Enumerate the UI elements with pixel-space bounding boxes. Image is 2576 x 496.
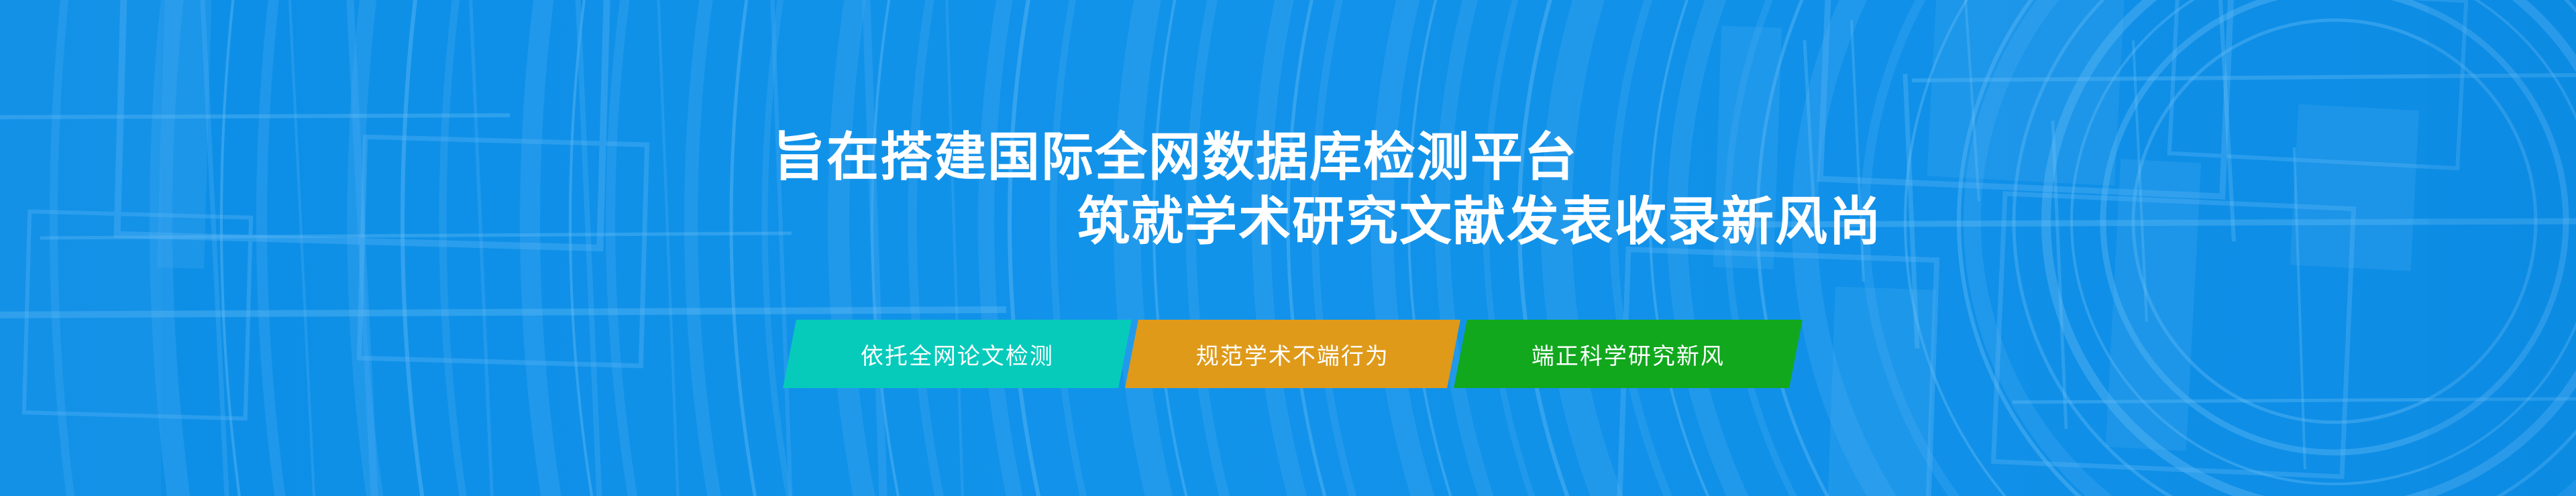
promo-banner: 旨在搭建国际全网数据库检测平台 筑就学术研究文献发表收录新风尚 依托全网论文检测… [0, 0, 2576, 496]
background-pattern [0, 0, 2576, 496]
feature-tag-label: 规范学术不端行为 [1196, 338, 1389, 371]
feature-tag-strip: 依托全网论文检测 规范学术不端行为 端正科学研究新风 [775, 320, 1808, 388]
feature-tag-label: 依托全网论文检测 [861, 338, 1054, 371]
feature-tag-label: 端正科学研究新风 [1532, 338, 1725, 371]
feature-tag-academic-misconduct[interactable]: 规范学术不端行为 [1125, 320, 1460, 388]
feature-tag-paper-detection[interactable]: 依托全网论文检测 [783, 320, 1132, 388]
feature-tag-research-ethos[interactable]: 端正科学研究新风 [1454, 320, 1803, 388]
